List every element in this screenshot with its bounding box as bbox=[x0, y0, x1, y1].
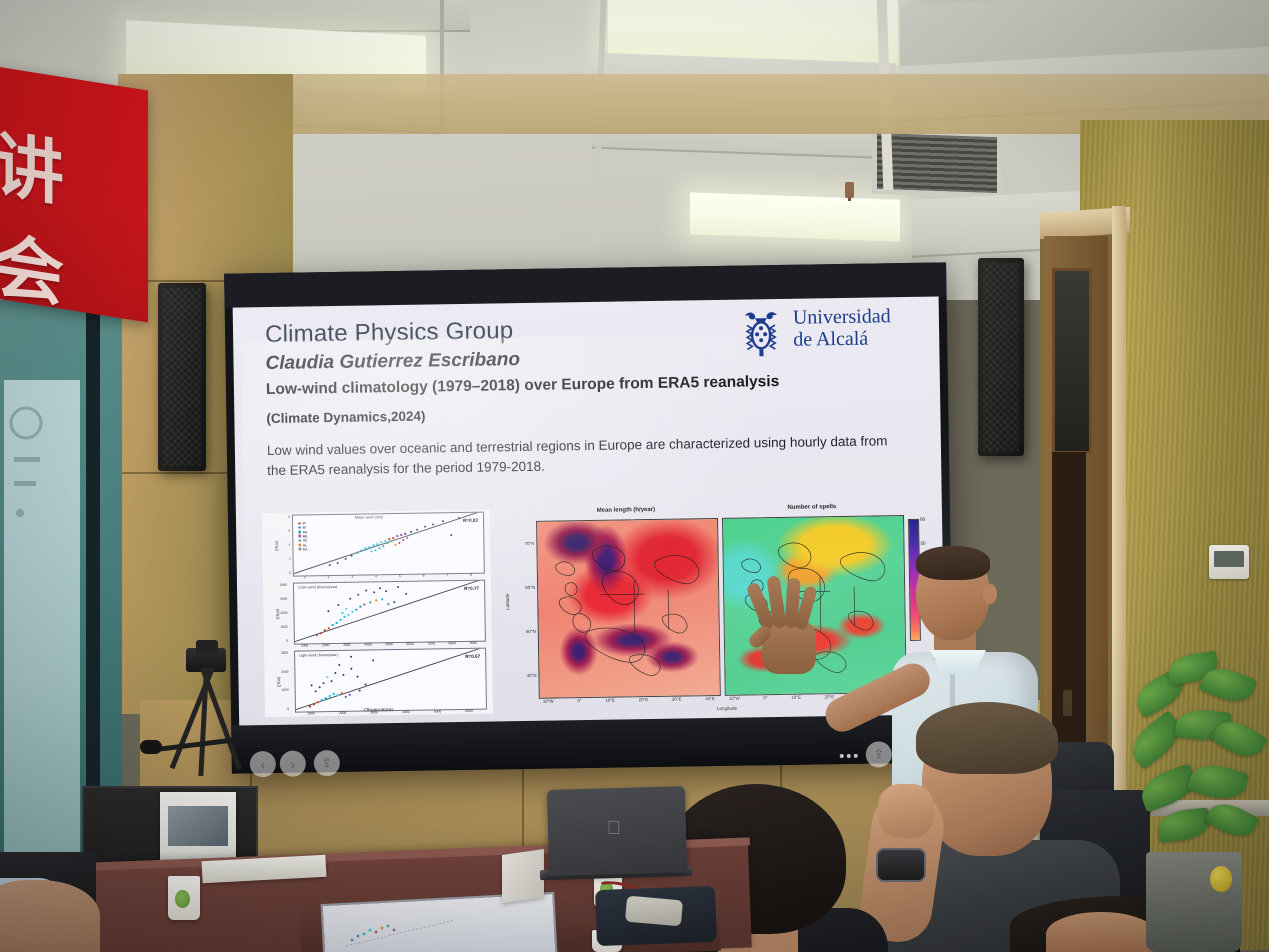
audience-foreground-face bbox=[1046, 912, 1156, 952]
wall-speaker-left bbox=[158, 283, 206, 471]
info-sheet-image bbox=[168, 806, 228, 846]
logo-text: Universidad de Alcalá bbox=[793, 305, 891, 351]
slide-journal-ref: (Climate Dynamics,2024) bbox=[266, 409, 425, 426]
slide-subtitle: Low-wind climatology (1979–2018) over Eu… bbox=[266, 373, 780, 399]
apple-logo-icon:  bbox=[605, 818, 623, 840]
fire-sprinkler bbox=[845, 182, 854, 198]
map1-title: Mean length (h/year) bbox=[536, 506, 716, 515]
logo-line-2: de Alcalá bbox=[793, 328, 891, 352]
heatmap-mean-length bbox=[536, 518, 721, 699]
tablet-screen-chart bbox=[340, 916, 460, 948]
slide-body-text: Low wind values over oceanic and terrest… bbox=[267, 431, 908, 480]
potted-plant bbox=[1128, 648, 1268, 868]
slide-indicator-dots bbox=[840, 754, 858, 758]
colorbar-tick: 60 bbox=[920, 517, 925, 522]
map-y-axis-label: Latitude bbox=[505, 594, 510, 610]
logo-line-1: Universidad bbox=[793, 305, 891, 329]
colorbar-tick: 50 bbox=[920, 541, 925, 546]
map2-title: Number of spells bbox=[722, 503, 902, 512]
presenter-pointing-hand bbox=[744, 578, 830, 674]
door-window bbox=[1052, 268, 1092, 454]
scatter-plot-figure: Mean wind (m/s) R=0.83 IP BI FR ME SC AL… bbox=[262, 510, 493, 718]
cloth bbox=[625, 896, 683, 927]
microphone bbox=[140, 740, 162, 754]
banner-text: 讲会 bbox=[0, 108, 144, 312]
slide-author: Claudia Gutierrez Escribano bbox=[265, 349, 520, 375]
slide-group-title: Climate Physics Group bbox=[265, 317, 514, 349]
presenter-hair bbox=[916, 546, 990, 580]
audience-right-hair bbox=[916, 702, 1058, 774]
paper-cup[interactable] bbox=[168, 876, 200, 920]
thermostat-screen bbox=[1214, 551, 1244, 567]
ceiling-light-panel bbox=[690, 192, 900, 241]
slide-content: Climate Physics Group Claudia Gutierrez … bbox=[233, 296, 946, 727]
universidad-de-alcala-logo: Universidad de Alcalá bbox=[733, 303, 930, 364]
conference-room-scene: 讲会 Climate Physics Group Claudia Gutierr… bbox=[0, 0, 1269, 952]
alcala-crest-icon bbox=[733, 305, 790, 362]
scatter-panel-light-wind: Light wind (hours/year) R=0.67 bbox=[294, 648, 487, 713]
audience-right-hand bbox=[878, 784, 934, 838]
panel1-y-ticks: 02 46 8 bbox=[276, 515, 291, 575]
name-card-holder bbox=[502, 849, 544, 903]
map1-y-ticks: 70°N60°N 50°N40°N bbox=[518, 521, 537, 697]
scatter-panel-mean-wind: Mean wind (m/s) R=0.83 IP BI FR ME SC AL… bbox=[292, 512, 485, 577]
wall-thermostat[interactable] bbox=[1209, 545, 1249, 579]
wall-speaker-right bbox=[978, 258, 1024, 456]
coastline-overlay bbox=[537, 519, 720, 698]
fruit bbox=[1210, 866, 1232, 892]
scatter-panel-calm-wind: Calm wind (hours/year) R=0.77 bbox=[293, 580, 486, 645]
panel3-y-ticks: 01000 20003000 bbox=[274, 651, 289, 711]
camera bbox=[196, 640, 218, 654]
glass-door-sign bbox=[8, 395, 64, 565]
wristwatch bbox=[876, 848, 926, 882]
presenter-ear bbox=[983, 584, 997, 604]
panel2-y-ticks: 02000 40006000 8000 bbox=[273, 583, 288, 643]
